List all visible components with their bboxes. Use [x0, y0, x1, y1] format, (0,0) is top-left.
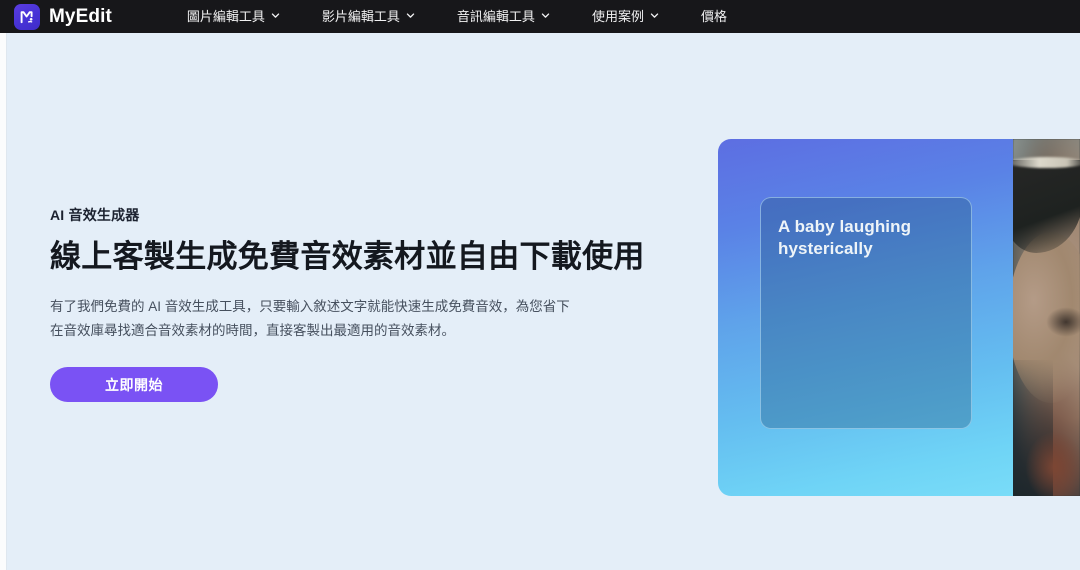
- photo-headband: [1013, 157, 1080, 168]
- photo-brow-shadow: [1046, 307, 1080, 337]
- hero-description-line-2: 在音效庫尋找適合音效素材的時間，直接客製出最適用的音效素材。: [50, 319, 710, 343]
- top-navigation-bar: MyEdit 圖片編輯工具 影片編輯工具: [0, 0, 1080, 33]
- myedit-m-logo-icon: [14, 4, 40, 30]
- hero-description: 有了我們免費的 AI 音效生成工具，只要輸入敘述文字就能快速生成免費音效，為您省…: [50, 295, 710, 342]
- nav-item-image-tools[interactable]: 圖片編輯工具: [187, 10, 280, 23]
- get-started-button[interactable]: 立即開始: [50, 367, 218, 402]
- chevron-down-icon: [541, 11, 550, 20]
- nav-item-label: 影片編輯工具: [322, 10, 400, 23]
- nav-item-video-tools[interactable]: 影片編輯工具: [322, 10, 415, 23]
- prompt-preview-card: A baby laughing hysterically: [760, 197, 972, 429]
- chevron-down-icon: [650, 11, 659, 20]
- gradient-backdrop: A baby laughing hysterically: [718, 139, 1013, 496]
- page-title: 線上客製生成免費音效素材並自由下載使用: [50, 238, 710, 275]
- nav-item-label: 音訊編輯工具: [457, 10, 535, 23]
- left-edge-gutter: [0, 33, 7, 570]
- photo-warm-highlight: [1026, 432, 1080, 496]
- nav-item-audio-tools[interactable]: 音訊編輯工具: [457, 10, 550, 23]
- hero-visual-panel: A baby laughing hysterically: [718, 139, 1080, 496]
- nav-menu: 圖片編輯工具 影片編輯工具 音訊編輯工具: [187, 10, 727, 23]
- hero-text-column: AI 音效生成器 線上客製生成免費音效素材並自由下載使用 有了我們免費的 AI …: [50, 205, 710, 402]
- chevron-down-icon: [271, 11, 280, 20]
- baby-face-photo: [1013, 139, 1080, 496]
- nav-item-label: 使用案例: [592, 10, 644, 23]
- page-background: MyEdit 圖片編輯工具 影片編輯工具: [0, 0, 1080, 570]
- nav-item-label: 圖片編輯工具: [187, 10, 265, 23]
- brand-logo[interactable]: MyEdit: [14, 4, 112, 30]
- prompt-text: A baby laughing hysterically: [778, 216, 954, 261]
- nav-item-pricing[interactable]: 價格: [701, 10, 727, 23]
- hero-eyebrow: AI 音效生成器: [50, 205, 710, 225]
- hero-description-line-1: 有了我們免費的 AI 音效生成工具，只要輸入敘述文字就能快速生成免費音效，為您省…: [50, 295, 710, 319]
- nav-item-use-cases[interactable]: 使用案例: [592, 10, 659, 23]
- nav-item-label: 價格: [701, 10, 727, 23]
- brand-name: MyEdit: [49, 7, 112, 26]
- chevron-down-icon: [406, 11, 415, 20]
